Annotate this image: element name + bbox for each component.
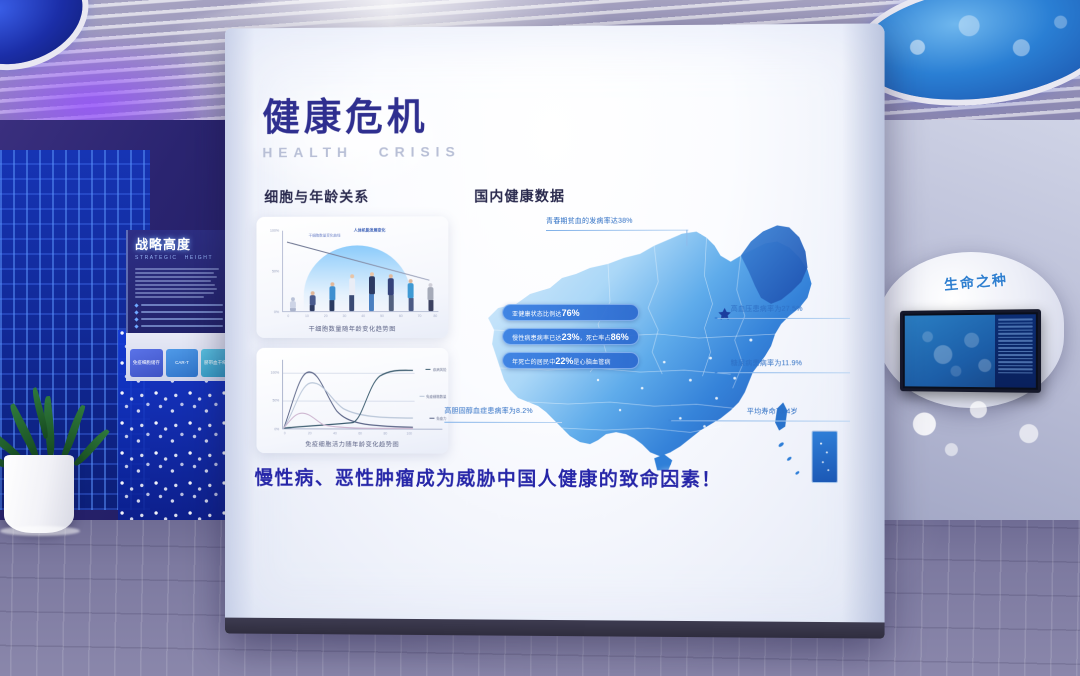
title-en-crisis: CRISIS	[379, 143, 461, 159]
annotation-life-expectancy: 平均寿命73.4岁	[747, 406, 798, 416]
figure-elderly	[426, 283, 435, 311]
badge-subhealth: 亚健康状态比例达76%	[502, 304, 639, 321]
figure-child	[308, 291, 317, 311]
map-statistic-badges: 亚健康状态比例达76% 慢性病患病率已达23%，死亡率占86% 年死亡的居民中2…	[502, 304, 639, 369]
annotation-diabetes: 糖尿病患病率为11.9%	[731, 358, 802, 368]
figure-infant	[288, 297, 297, 311]
chart-1-xtick-2: 20	[324, 314, 328, 318]
chart-2-legend-2: 免疫力	[429, 416, 446, 421]
chart-1-xtick-1: 10	[305, 314, 309, 318]
title-en-health: HEALTH	[262, 144, 353, 160]
annotation-anemia-elbow	[686, 230, 687, 246]
chart-2-caption: 免疫细胞活力随年龄变化趋势图	[256, 439, 448, 449]
badge-chronic-disease: 慢性病患病率已达23%，死亡率占86%	[502, 328, 639, 345]
chart-2-xtick-2: 40	[333, 431, 337, 435]
chart-1-xtick-3: 30	[343, 314, 347, 318]
plant-pot-base	[0, 526, 80, 536]
section-heading-cells-age: 细胞与年龄关系	[264, 187, 369, 207]
chart-2-ytick-2: 0%	[274, 427, 279, 431]
chart-1-xtick-4: 40	[361, 314, 365, 318]
chart-1-human-figures	[288, 249, 435, 311]
title-block: 健康危机 HEALTH CRISIS	[262, 99, 460, 161]
chart-2-ytick-0: 100%	[271, 370, 280, 374]
wall-left-shading	[225, 28, 255, 633]
chart-1-series-label-area: 人体机能发展变化	[354, 227, 386, 233]
chart-1-ytick-1: 50%	[272, 269, 279, 273]
strategy-exhibit-cards: 免疫细胞储存 CAR-T 脐带血干细胞	[126, 333, 238, 381]
chart-2-legend-1: 免疫细胞数量	[419, 393, 446, 398]
chart-card-stemcell: 100% 50% 0% 干细胞数量变化曲线 人体机能发展变化	[256, 216, 448, 338]
section-heading-health-data: 国内健康数据	[474, 186, 565, 206]
bottom-headline: 慢性病、恶性肿瘤成为威胁中国人健康的致命因素！	[255, 463, 722, 492]
chart-2-xtick-4: 80	[384, 432, 388, 436]
chart-2-xtick-3: 60	[358, 431, 362, 435]
chart-1-xtick-6: 60	[399, 314, 403, 318]
chart-1-x-axis	[282, 311, 438, 312]
seed-exhibit-screen[interactable]	[900, 309, 1041, 393]
annotation-anemia: 青春期贫血的发病率达38%	[546, 216, 633, 226]
strategy-en-word-1: STRATEGIC	[135, 255, 178, 261]
map-inset-box	[812, 431, 838, 483]
chart-1-series-label-curve: 干细胞数量变化曲线	[309, 234, 341, 239]
exhibition-hall-scene: 战略高度 STRATEGIC HEIGHT 免疫细胞储存 CAR-T 脐带血干细…	[0, 0, 1080, 676]
figure-middle-age	[406, 279, 415, 311]
annotation-hypertension: 高血压患病率为27.5%	[731, 304, 803, 314]
exhibit-card-1: CAR-T	[166, 349, 199, 377]
figure-teen	[328, 282, 337, 311]
figure-young-adult	[347, 274, 356, 311]
chart-2-lines	[282, 360, 415, 430]
strategy-panel-title: 战略高度	[135, 238, 223, 252]
annotation-hypertension-line	[717, 318, 850, 319]
seed-screen-sidebar	[995, 314, 1036, 387]
chart-2-legend-0: 疾病风险	[426, 367, 446, 372]
badge-cardiovascular: 年死亡的居民中22%是心脑血管病	[502, 352, 639, 369]
chart-2-ytick-1: 50%	[272, 398, 279, 402]
figure-adult-1	[367, 272, 376, 311]
chart-1-y-axis	[282, 231, 283, 312]
chart-1-caption: 干细胞数量随年龄变化趋势图	[256, 324, 448, 333]
page-title: 健康危机	[262, 99, 460, 138]
annotation-hypertension-dot	[715, 316, 718, 319]
annotation-cholesterol: 高胆固醇血症患病率为8.2%	[444, 406, 532, 416]
figure-adult-2	[387, 274, 396, 311]
strategy-panel-text-block	[135, 268, 223, 297]
chart-2-xtick-5: 100	[407, 432, 412, 436]
chart-card-immunity: 100% 50% 0% 疾病风险 免疫细胞数量 免疫力	[256, 348, 448, 454]
china-map: 亚健康状态比例达76% 慢性病患病率已达23%，死亡率占86% 年死亡的居民中2…	[458, 211, 860, 503]
chart-2-plot: 100% 50% 0% 疾病风险 免疫细胞数量 免疫力	[282, 360, 415, 430]
annotation-diabetes-dot	[715, 371, 718, 374]
exhibit-card-0: 免疫细胞储存	[130, 349, 163, 377]
chart-1-ytick-0: 100%	[270, 229, 279, 233]
strategy-panel-bullets	[135, 304, 223, 328]
chart-1-xtick-7: 70	[418, 314, 422, 318]
chart-1-ytick-2: 0%	[274, 310, 279, 314]
strategy-panel-subtitle: STRATEGIC HEIGHT	[135, 255, 223, 261]
page-subtitle: HEALTH CRISIS	[262, 143, 460, 160]
plant-pot	[4, 455, 74, 533]
chart-1-xtick-0: 0	[287, 314, 289, 318]
display-wall: 健康危机 HEALTH CRISIS 细胞与年龄关系 国内健康数据 100% 5…	[225, 23, 885, 638]
chart-1-xtick-5: 50	[380, 314, 384, 318]
chart-1-xtick-8: 80	[433, 314, 437, 318]
chart-2-xtick-1: 20	[308, 431, 312, 435]
annotation-life-dot	[668, 419, 671, 422]
annotation-diabetes-line	[717, 372, 850, 373]
chart-2-xtick-0: 0	[284, 431, 286, 435]
chart-1-plot: 100% 50% 0% 干细胞数量变化曲线 人体机能发展变化	[282, 230, 438, 312]
strategy-en-word-2: HEIGHT	[185, 255, 214, 261]
